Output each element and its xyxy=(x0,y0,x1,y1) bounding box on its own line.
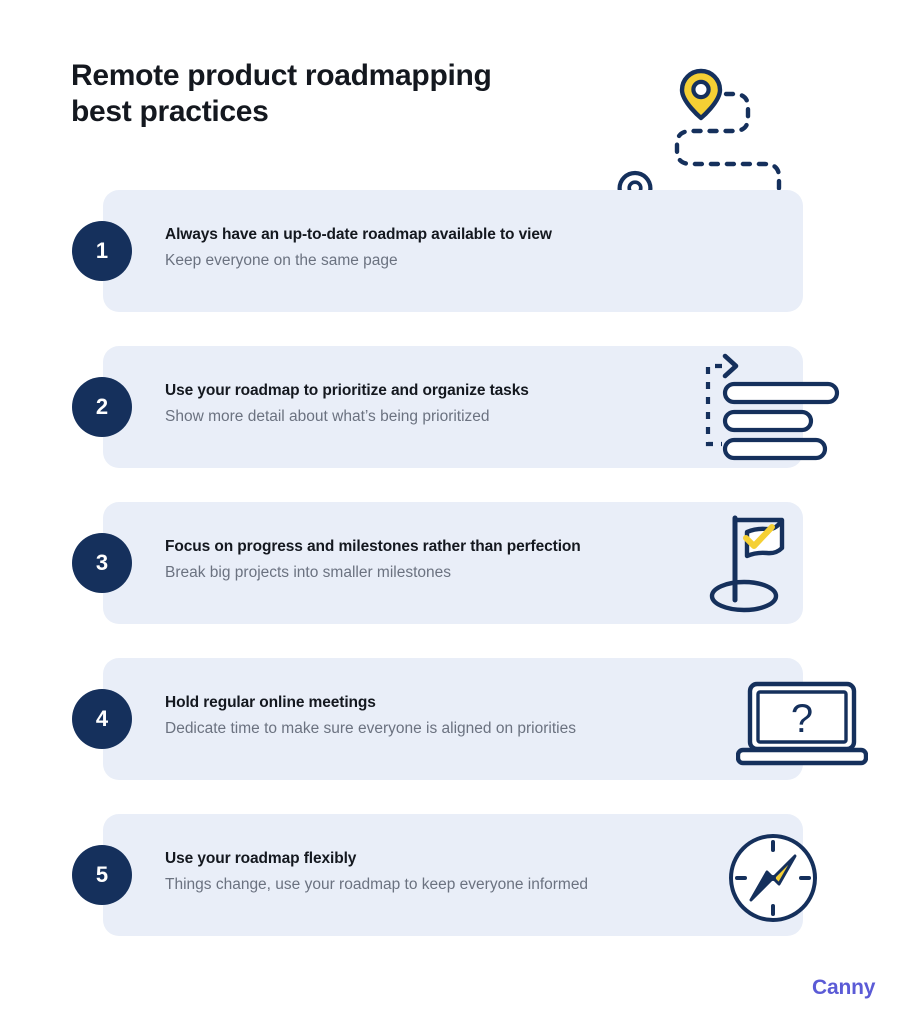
map-pin-yellow-icon xyxy=(682,71,720,118)
practice-subtext: Keep everyone on the same page xyxy=(165,251,552,271)
practice-heading: Hold regular online meetings xyxy=(165,693,576,713)
practice-card-text: Always have an up-to-date roadmap availa… xyxy=(165,225,552,271)
step-number-badge: 1 xyxy=(72,221,132,281)
flag-milestone-icon xyxy=(692,508,802,618)
gantt-bar xyxy=(725,412,811,430)
gantt-bar xyxy=(725,384,837,402)
practice-heading: Use your roadmap to prioritize and organ… xyxy=(165,381,529,401)
laptop-question-icon: ? xyxy=(736,678,868,770)
step-number-badge: 2 xyxy=(72,377,132,437)
step-number-badge: 5 xyxy=(72,845,132,905)
practice-card-text: Use your roadmap to prioritize and organ… xyxy=(165,381,529,427)
practice-subtext: Dedicate time to make sure everyone is a… xyxy=(165,719,576,739)
gantt-bar xyxy=(725,440,825,458)
infographic-page: Remote product roadmapping best practice… xyxy=(0,0,907,1024)
practice-card-text: Hold regular online meetings Dedicate ti… xyxy=(165,693,576,739)
practice-card-text: Focus on progress and milestones rather … xyxy=(165,537,581,583)
gantt-bracket xyxy=(708,366,722,444)
step-number-badge: 4 xyxy=(72,689,132,749)
compass-icon xyxy=(727,832,819,924)
gantt-chart-icon xyxy=(694,348,844,463)
question-mark-glyph: ? xyxy=(791,697,813,741)
flag-base xyxy=(712,582,776,610)
canny-logo[interactable]: Canny xyxy=(812,976,875,1000)
practice-subtext: Things change, use your roadmap to keep … xyxy=(165,875,588,895)
page-title: Remote product roadmapping best practice… xyxy=(71,58,591,130)
practice-subtext: Break big projects into smaller mileston… xyxy=(165,563,581,583)
practice-card-text: Use your roadmap flexibly Things change,… xyxy=(165,849,588,895)
practice-heading: Always have an up-to-date roadmap availa… xyxy=(165,225,552,245)
laptop-base xyxy=(738,750,866,763)
compass-center-dot xyxy=(770,875,776,881)
gantt-arrow xyxy=(725,356,736,376)
practice-heading: Focus on progress and milestones rather … xyxy=(165,537,581,557)
step-number-badge: 3 xyxy=(72,533,132,593)
practice-subtext: Show more detail about what’s being prio… xyxy=(165,407,529,427)
route-dashed-path xyxy=(650,94,779,200)
practice-heading: Use your roadmap flexibly xyxy=(165,849,588,869)
